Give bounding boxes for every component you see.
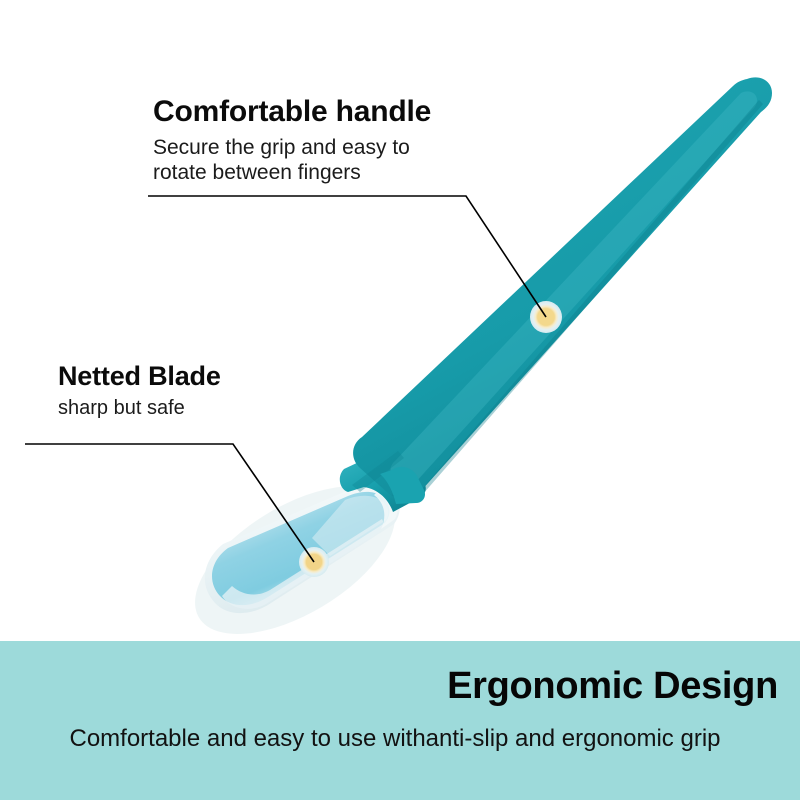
banner-title: Ergonomic Design: [447, 665, 778, 708]
callout-netted-blade: Netted Blade sharp but safe: [58, 362, 328, 421]
banner-subtitle: Comfortable and easy to use withanti-sli…: [0, 725, 790, 753]
callout-comfortable-handle: Comfortable handle Secure the grip and e…: [153, 96, 453, 186]
callout-netted-blade-title: Netted Blade: [58, 362, 328, 390]
handle-marker-dot-icon: [530, 301, 562, 333]
callout-comfortable-handle-subtitle: Secure the grip and easy to rotate betwe…: [153, 135, 453, 186]
callout-netted-blade-subtitle: sharp but safe: [58, 396, 328, 420]
product-infographic-page: Comfortable handle Secure the grip and e…: [0, 0, 800, 800]
bottom-banner: Ergonomic Design Comfortable and easy to…: [0, 641, 800, 800]
blade-marker-dot-icon: [299, 547, 329, 577]
callout-handle-subtitle-line-2: rotate between fingers: [153, 161, 361, 184]
callout-comfortable-handle-title: Comfortable handle: [153, 96, 453, 128]
callout-handle-subtitle-line-1: Secure the grip and easy to: [153, 136, 410, 159]
